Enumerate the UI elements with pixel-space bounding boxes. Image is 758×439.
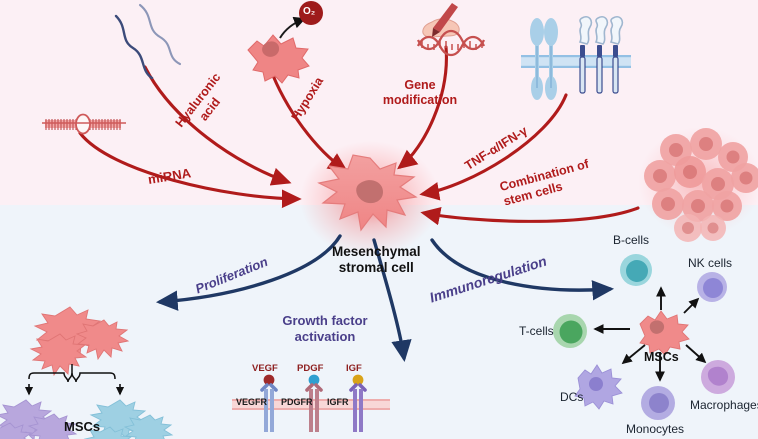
membrane-receptor-icon	[521, 17, 631, 100]
arrow-to-macrophages	[686, 345, 705, 362]
arrow-to-nkcells	[684, 299, 698, 313]
label-pdgf: PDGF	[297, 363, 323, 374]
center-label-line2: stromal cell	[332, 260, 421, 276]
pdgf-ligand	[309, 375, 320, 386]
stem-cell-cluster-icon	[638, 127, 758, 242]
label-growth-factor-line1: Growth factor	[270, 313, 380, 329]
hypoxia-cell-icon	[248, 35, 309, 83]
center-label: Mesenchymal stromal cell	[332, 244, 421, 276]
igf-ligand	[353, 375, 364, 386]
immuno-hub-msc	[640, 311, 689, 355]
arrow-to-dcs	[623, 345, 645, 363]
arrow-oxygen-release	[280, 19, 304, 38]
label-gene-modification: Gene modification	[370, 78, 470, 108]
diagram-graphics	[0, 0, 758, 439]
label-dcs: DCs	[560, 390, 583, 404]
vegf-ligand	[264, 375, 275, 386]
dna-edit-icon	[418, 3, 484, 55]
label-bcells: B-cells	[613, 233, 649, 247]
label-gene-modification-line1: Gene	[370, 78, 470, 93]
label-igfr: IGFR	[327, 397, 349, 407]
label-tcells: T-cells	[519, 324, 554, 338]
figure-canvas: Mesenchymal stromal cell Hyaluronic acid…	[0, 0, 758, 439]
label-gene-modification-line2: modification	[370, 93, 470, 108]
arrow-combination-stem-cells	[424, 208, 638, 221]
label-macrophages: Macrophages	[690, 398, 758, 412]
label-pdgfr: PDGFR	[281, 397, 313, 407]
center-label-line1: Mesenchymal	[332, 244, 421, 260]
label-monocytes: Monocytes	[626, 422, 684, 436]
label-msc-hub: MSCs	[644, 350, 679, 364]
label-growth-factor-line2: activation	[270, 329, 380, 345]
label-igf: IGF	[346, 363, 362, 374]
label-o2: O₂	[303, 6, 315, 17]
label-vegfr: VEGFR	[236, 397, 267, 407]
mirna-icon	[42, 115, 126, 134]
label-vegf: VEGF	[252, 363, 278, 374]
label-nkcells: NK cells	[688, 256, 732, 270]
hyaluronic-acid-icon	[116, 5, 180, 78]
label-growth-factor-activation: Growth factor activation	[270, 313, 380, 345]
label-msc-proliferation: MSCs	[64, 419, 100, 434]
